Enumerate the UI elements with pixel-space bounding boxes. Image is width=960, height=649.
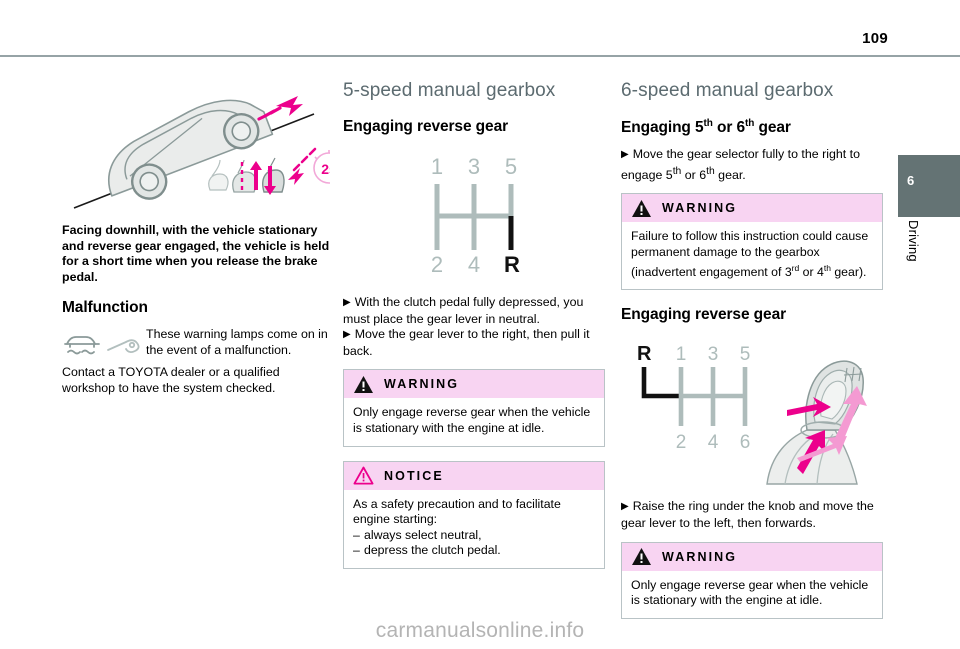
warning-box-6sp-1: WARNING Failure to follow this instructi… — [621, 193, 883, 290]
watermark: carmanualsonline.info — [0, 619, 960, 643]
notice-body: As a safety precaution and to facilitate… — [344, 490, 604, 568]
manual-page: 109 6 Driving — [0, 0, 960, 649]
notice-title: NOTICE — [384, 469, 444, 483]
warning-triangle-filled-icon — [631, 547, 652, 566]
warning-body: Only engage reverse gear when the vehicl… — [622, 571, 882, 618]
notice-items: –always select neutral, –depress the clu… — [353, 528, 595, 559]
chapter-tab: 6 — [898, 155, 960, 217]
bullet-arrow-icon: ▶ — [621, 147, 629, 163]
gear-label-5: 5 — [740, 344, 751, 365]
gear-label-1: 1 — [676, 344, 687, 365]
gear-label-r: R — [504, 252, 520, 276]
warning-title: WARNING — [662, 201, 737, 215]
gear-label-1: 1 — [431, 154, 443, 179]
car-downhill-illustration: 2s — [62, 80, 330, 215]
gear-label-4: 4 — [708, 432, 719, 453]
gear-label-r: R — [637, 343, 652, 365]
gear-label-3: 3 — [708, 344, 719, 365]
brake-pedal-detail: 2s — [209, 149, 330, 195]
warning-body: Only engage reverse gear when the vehicl… — [344, 398, 604, 445]
page-number: 109 — [862, 30, 888, 47]
middle-column: 5-speed manual gearbox Engaging reverse … — [343, 80, 605, 583]
malfunction-heading: Malfunction — [62, 299, 330, 317]
downhill-caption: Facing downhill, with the vehicle statio… — [62, 223, 330, 285]
bullet-arrow-icon: ▶ — [343, 327, 351, 343]
step-5sp-2: ▶Move the gear lever to the right, then … — [343, 327, 605, 359]
malfunction-lamp-text: These warning lamps come on in the event… — [146, 327, 330, 358]
engaging-reverse-gear-heading-6sp: Engaging reverse gear — [621, 306, 883, 324]
six-speed-section-heading: 6-speed manual gearbox — [621, 80, 883, 102]
notice-item: –depress the clutch pedal. — [353, 543, 595, 559]
gear-label-4: 4 — [468, 252, 480, 276]
engaging-reverse-gear-heading-5sp: Engaging reverse gear — [343, 118, 605, 136]
warning-lamp-icons — [62, 327, 146, 365]
step-6sp-2: ▶Raise the ring under the knob and move … — [621, 499, 883, 531]
six-speed-gear-pattern-and-lever: R 1 3 5 2 4 6 — [621, 334, 883, 491]
warning-triangle-filled-icon — [353, 375, 374, 394]
motion-arrow-icon — [259, 96, 303, 119]
left-column: 2s Facing downhill, with the vehicle sta… — [62, 80, 330, 401]
warning-box-5sp: WARNING Only engage reverse gear when th… — [343, 369, 605, 446]
five-speed-section-heading: 5-speed manual gearbox — [343, 80, 605, 102]
gear-lever-illustration — [767, 361, 867, 484]
malfunction-contact-text: Contact a TOYOTA dealer or a qualified w… — [62, 365, 330, 396]
timer-label: 2s — [321, 161, 330, 177]
gear-label-2: 2 — [676, 432, 687, 453]
warning-title: WARNING — [662, 550, 737, 564]
notice-intro: As a safety precaution and to facilitate… — [353, 497, 595, 528]
chapter-tab-label: Driving — [898, 220, 960, 340]
car-downhill-svg: 2s — [62, 80, 330, 210]
malfunction-block: These warning lamps come on in the event… — [62, 327, 330, 396]
chapter-tab-label-text: Driving — [898, 220, 921, 262]
warning-body: Failure to follow this instruction could… — [622, 222, 882, 289]
gear-label-2: 2 — [431, 252, 443, 276]
notice-item: –always select neutral, — [353, 528, 595, 544]
engaging-5th-or-6th-heading: Engaging 5th or 6th gear — [621, 118, 883, 137]
right-column: 6-speed manual gearbox Engaging 5th or 6… — [621, 80, 883, 633]
gear-label-6: 6 — [740, 432, 751, 453]
wrench-icon — [108, 341, 139, 353]
chapter-tab-number: 6 — [907, 173, 914, 188]
bullet-arrow-icon: ▶ — [621, 499, 629, 515]
header-rule — [0, 55, 960, 57]
vsc-skidding-car-icon — [65, 337, 99, 354]
notice-triangle-outline-icon — [353, 466, 374, 485]
gear-label-3: 3 — [468, 154, 480, 179]
warning-triangle-filled-icon — [631, 199, 652, 218]
step-5sp-1: ▶With the clutch pedal fully depressed, … — [343, 295, 605, 327]
warning-box-6sp-2: WARNING Only engage reverse gear when th… — [621, 542, 883, 619]
gear-label-5: 5 — [505, 154, 517, 179]
warning-title: WARNING — [384, 377, 459, 391]
notice-box-5sp: NOTICE As a safety precaution and to fac… — [343, 461, 605, 569]
five-speed-gear-pattern: 1 3 5 2 4 R — [343, 146, 605, 281]
step-6sp-1: ▶Move the gear selector fully to the rig… — [621, 147, 883, 183]
bullet-arrow-icon: ▶ — [343, 295, 351, 311]
